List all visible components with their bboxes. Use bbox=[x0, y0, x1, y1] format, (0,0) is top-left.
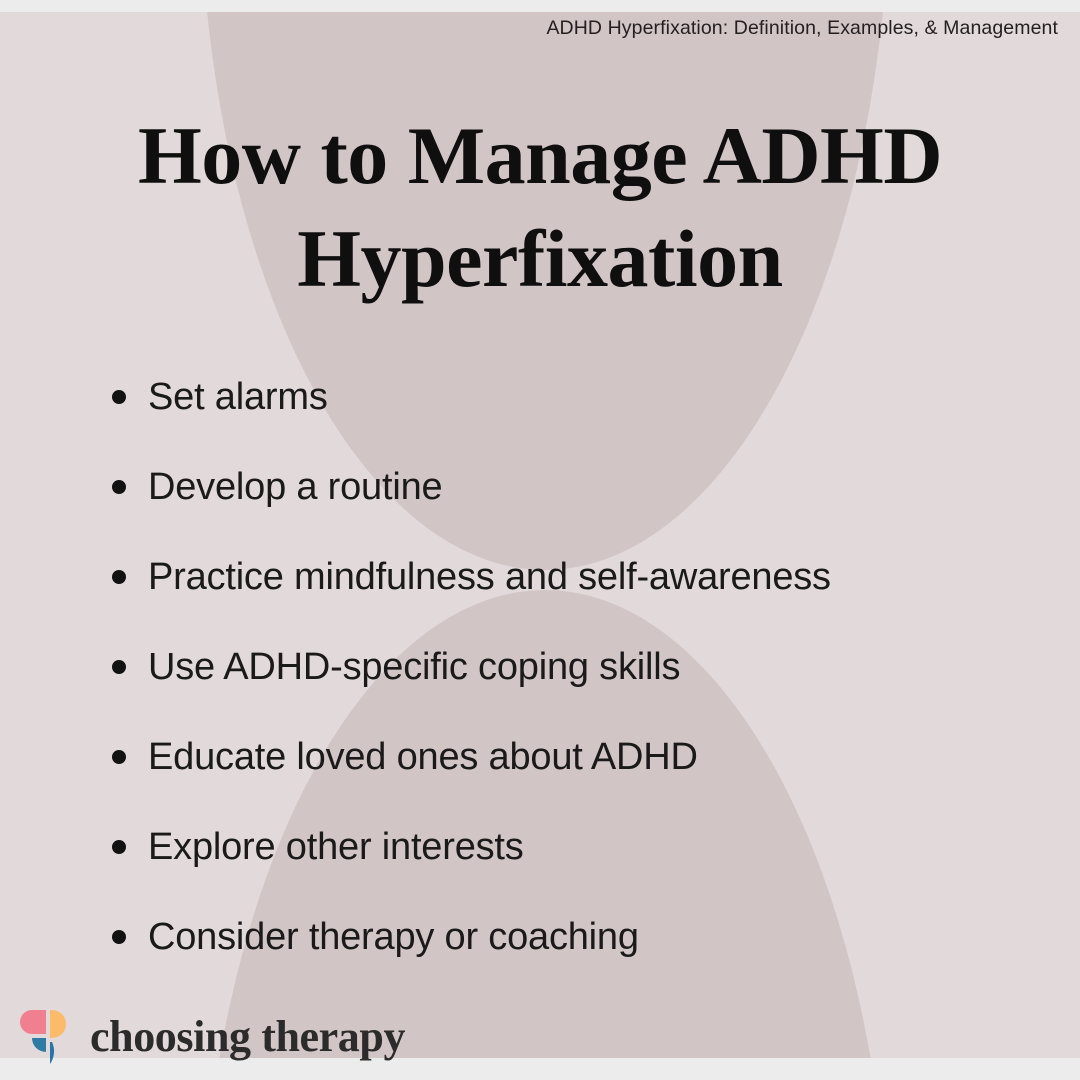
list-item-label: Explore other interests bbox=[148, 802, 524, 892]
list-item: Develop a routine bbox=[112, 442, 1012, 532]
logo-quadrant-bottom-left bbox=[32, 1038, 46, 1052]
list-item-label: Develop a routine bbox=[148, 442, 442, 532]
bullet-dot-icon bbox=[112, 750, 126, 764]
logo-quadrant-bottom-right bbox=[50, 1042, 54, 1064]
bullet-dot-icon bbox=[112, 930, 126, 944]
bullet-dot-icon bbox=[112, 390, 126, 404]
bullet-dot-icon bbox=[112, 840, 126, 854]
list-item-label: Set alarms bbox=[148, 352, 328, 442]
infographic-card: ADHD Hyperfixation: Definition, Examples… bbox=[0, 0, 1080, 1080]
page-title-text: How to Manage ADHD Hyperfixation bbox=[70, 104, 1010, 311]
list-item: Consider therapy or coaching bbox=[112, 892, 1012, 982]
bullet-dot-icon bbox=[112, 480, 126, 494]
page-title-line-1: How to Manage ADHD bbox=[138, 110, 942, 201]
logo-quadrant-top-left bbox=[20, 1010, 46, 1034]
header-title: ADHD Hyperfixation: Definition, Examples… bbox=[546, 17, 1058, 40]
tips-list: Set alarms Develop a routine Practice mi… bbox=[112, 352, 1012, 982]
page-title-line-2: Hyperfixation bbox=[297, 213, 782, 304]
list-item: Set alarms bbox=[112, 352, 1012, 442]
bullet-dot-icon bbox=[112, 660, 126, 674]
brand-logo[interactable]: choosing therapy bbox=[20, 1008, 405, 1066]
list-item-label: Use ADHD-specific coping skills bbox=[148, 622, 680, 712]
page-title: How to Manage ADHD Hyperfixation bbox=[70, 104, 1010, 311]
header-bar: ADHD Hyperfixation: Definition, Examples… bbox=[0, 0, 1080, 56]
list-item: Educate loved ones about ADHD bbox=[112, 712, 1012, 802]
list-item: Practice mindfulness and self-awareness bbox=[112, 532, 1012, 622]
list-item-label: Consider therapy or coaching bbox=[148, 892, 639, 982]
logo-quadrant-top-right bbox=[50, 1010, 66, 1038]
list-item: Explore other interests bbox=[112, 802, 1012, 892]
list-item-label: Educate loved ones about ADHD bbox=[148, 712, 698, 802]
list-item: Use ADHD-specific coping skills bbox=[112, 622, 1012, 712]
brand-wordmark: choosing therapy bbox=[90, 1015, 405, 1059]
choosing-therapy-mark-icon bbox=[20, 1008, 76, 1066]
list-item-label: Practice mindfulness and self-awareness bbox=[148, 532, 831, 622]
bullet-dot-icon bbox=[112, 570, 126, 584]
